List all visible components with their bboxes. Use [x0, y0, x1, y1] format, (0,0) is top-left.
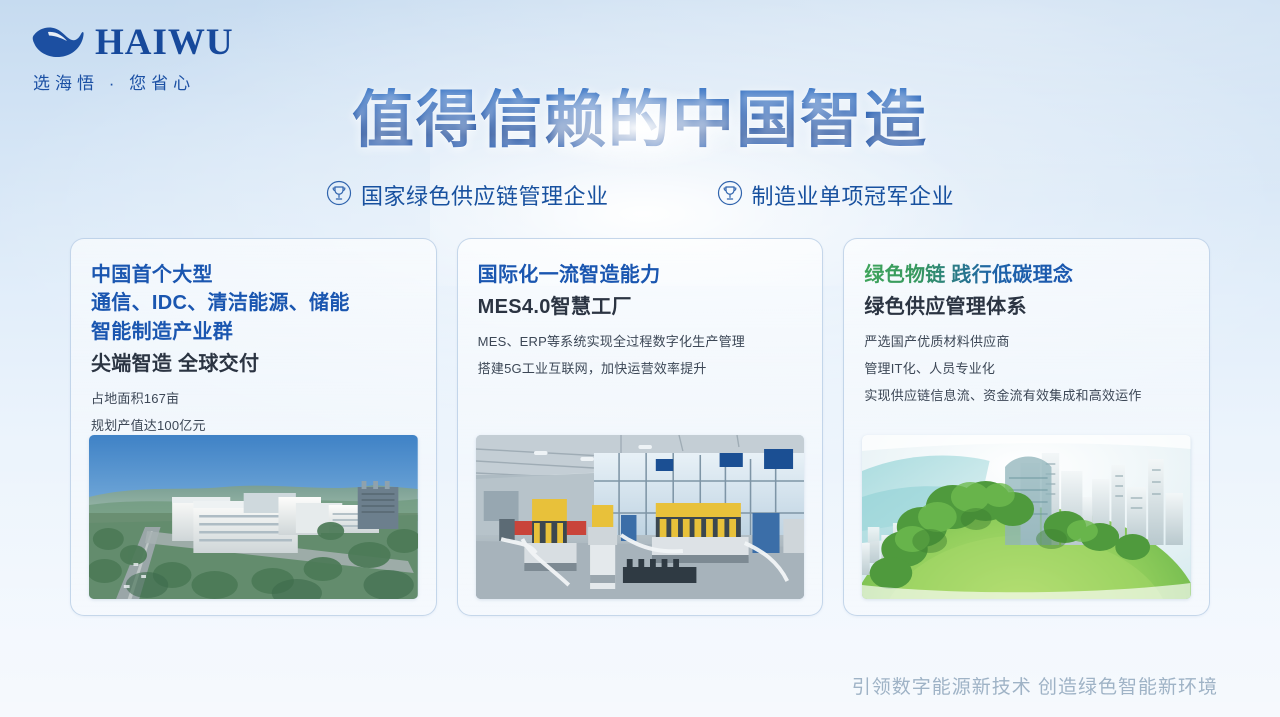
card-heading-line: 国际化一流智造能力	[478, 261, 803, 289]
card-subheading: 尖端智造 全球交付	[91, 350, 416, 379]
card-subheading: 绿色供应管理体系	[864, 293, 1189, 322]
card-subheading: MES4.0智慧工厂	[478, 293, 803, 322]
factory-workshop-photo	[476, 435, 805, 599]
card-heading-line: 通信、IDC、清洁能源、储能	[91, 289, 416, 317]
trophy-icon	[326, 180, 352, 211]
hero-section: 值得信赖的中国智造 国家绿色供应链管理企业	[0, 88, 1280, 211]
brand-name: HAIWU	[95, 24, 234, 61]
page-title: 值得信赖的中国智造	[352, 88, 928, 153]
card-bullet: 占地面积167亩	[91, 386, 416, 413]
brand-logo: HAIWU 选海悟 · 您省心	[30, 22, 260, 94]
card-heading: 中国首个大型 通信、IDC、清洁能源、储能 智能制造产业群	[91, 261, 416, 346]
feature-card-smart-factory[interactable]: 国际化一流智造能力 MES4.0智慧工厂 MES、ERP等系统实现全过程数字化生…	[457, 238, 824, 616]
award-badge-0: 国家绿色供应链管理企业	[326, 179, 609, 211]
feature-card-industrial-park[interactable]: 中国首个大型 通信、IDC、清洁能源、储能 智能制造产业群 尖端智造 全球交付 …	[70, 238, 437, 616]
industrial-park-aerial-photo	[89, 435, 418, 599]
card-bullet: 搭建5G工业互联网，加快运营效率提升	[478, 356, 803, 383]
card-heading: 国际化一流智造能力	[478, 261, 803, 289]
feature-card-green-supply-chain[interactable]: 绿色物链 践行低碳理念 绿色供应管理体系 严选国产优质材料供应商 管理IT化、人…	[843, 238, 1210, 616]
card-bullet-list: 严选国产优质材料供应商 管理IT化、人员专业化 实现供应链信息流、资金流有效集成…	[864, 329, 1189, 409]
award-badge-list: 国家绿色供应链管理企业 制造业单项冠军企业	[0, 179, 1280, 211]
footer-slogan: 引领数字能源新技术 创造绿色智能新环境	[852, 672, 1218, 699]
trophy-icon	[717, 180, 743, 211]
card-bullet: MES、ERP等系统实现全过程数字化生产管理	[478, 329, 803, 356]
award-badge-1: 制造业单项冠军企业	[717, 179, 955, 211]
card-bullet-list: MES、ERP等系统实现全过程数字化生产管理 搭建5G工业互联网，加快运营效率提…	[478, 329, 803, 382]
award-badge-label: 制造业单项冠军企业	[752, 179, 955, 211]
card-heading: 绿色物链 践行低碳理念	[864, 261, 1073, 289]
card-bullet: 严选国产优质材料供应商	[864, 329, 1189, 356]
card-heading-line: 智能制造产业群	[91, 318, 416, 346]
card-heading-line: 中国首个大型	[91, 261, 416, 289]
feature-card-list: 中国首个大型 通信、IDC、清洁能源、储能 智能制造产业群 尖端智造 全球交付 …	[70, 238, 1210, 616]
page-title-text: 值得信赖的中国智造	[352, 86, 928, 155]
card-bullet: 管理IT化、人员专业化	[864, 356, 1189, 383]
award-badge-label: 国家绿色供应链管理企业	[361, 179, 609, 211]
wave-bird-logo-icon	[30, 22, 86, 62]
green-eco-planet-photo	[862, 435, 1191, 599]
card-bullet: 实现供应链信息流、资金流有效集成和高效运作	[864, 383, 1189, 410]
